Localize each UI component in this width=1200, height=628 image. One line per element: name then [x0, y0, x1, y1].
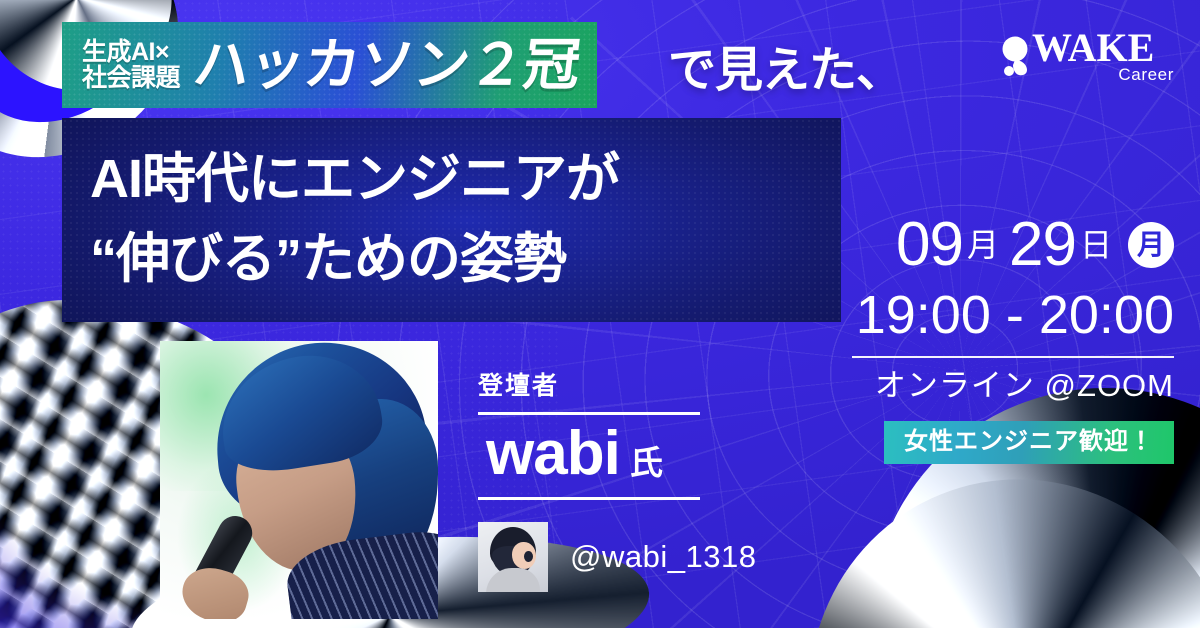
speaker-honorific: 氏	[630, 446, 663, 479]
event-venue: オンライン @ZOOM	[852, 370, 1174, 401]
comma-mark-icon	[1002, 36, 1036, 76]
logo-wordmark: WAKE	[1032, 28, 1154, 68]
hackathon-banner: 生成AI× 社会課題 ハッカソン２冠	[62, 22, 597, 108]
hackathon-banner-headline: ハッカソン２冠	[191, 37, 583, 93]
hackathon-banner-subtext: 生成AI× 社会課題	[82, 39, 180, 92]
hackathon-subtext-line2: 社会課題	[82, 65, 180, 92]
speaker-avatar	[478, 522, 548, 592]
logo-subtitle: Career	[1118, 66, 1174, 83]
speaker-name-row: wabi 氏	[478, 421, 808, 489]
event-info-block: 09 月 29 日 月 19:00 - 20:00 オンライン @ZOOM 女性…	[852, 214, 1174, 464]
event-info-divider	[852, 356, 1174, 358]
speaker-handle-row[interactable]: @wabi_1318	[478, 522, 808, 592]
event-day-unit: 日	[1078, 229, 1120, 261]
hackathon-subtext-line1: 生成AI×	[82, 39, 180, 66]
event-day: 29	[1009, 214, 1076, 276]
speaker-name: wabi	[486, 423, 620, 485]
event-month-unit: 月	[965, 229, 1007, 261]
title-line-1: AI時代にエンジニアが	[90, 152, 841, 206]
speaker-handle[interactable]: @wabi_1318	[570, 539, 756, 575]
speaker-rule-top	[478, 412, 700, 415]
title-panel: AI時代にエンジニアが “伸びる”ための姿勢	[62, 118, 841, 322]
banner-canvas: 生成AI× 社会課題 ハッカソン２冠 で見えた、 WAKE Career AI時…	[0, 0, 1200, 628]
headline-tail-text: で見えた、	[668, 22, 903, 108]
avatar-eye	[524, 551, 533, 562]
event-day-of-week-badge: 月	[1128, 222, 1174, 268]
welcome-badge: 女性エンジニア歓迎！	[884, 421, 1174, 464]
speaker-rule-bottom	[478, 497, 700, 500]
event-month: 09	[896, 214, 963, 276]
event-time: 19:00 - 20:00	[852, 288, 1174, 342]
wake-career-logo[interactable]: WAKE Career	[1002, 26, 1176, 88]
speaker-label: 登壇者	[478, 374, 808, 399]
speaker-block: 登壇者 wabi 氏 @wabi_1318	[478, 374, 808, 592]
event-date-row: 09 月 29 日 月	[852, 214, 1174, 276]
speaker-photo	[160, 341, 438, 619]
title-line-2: “伸びる”ための姿勢	[90, 232, 841, 286]
